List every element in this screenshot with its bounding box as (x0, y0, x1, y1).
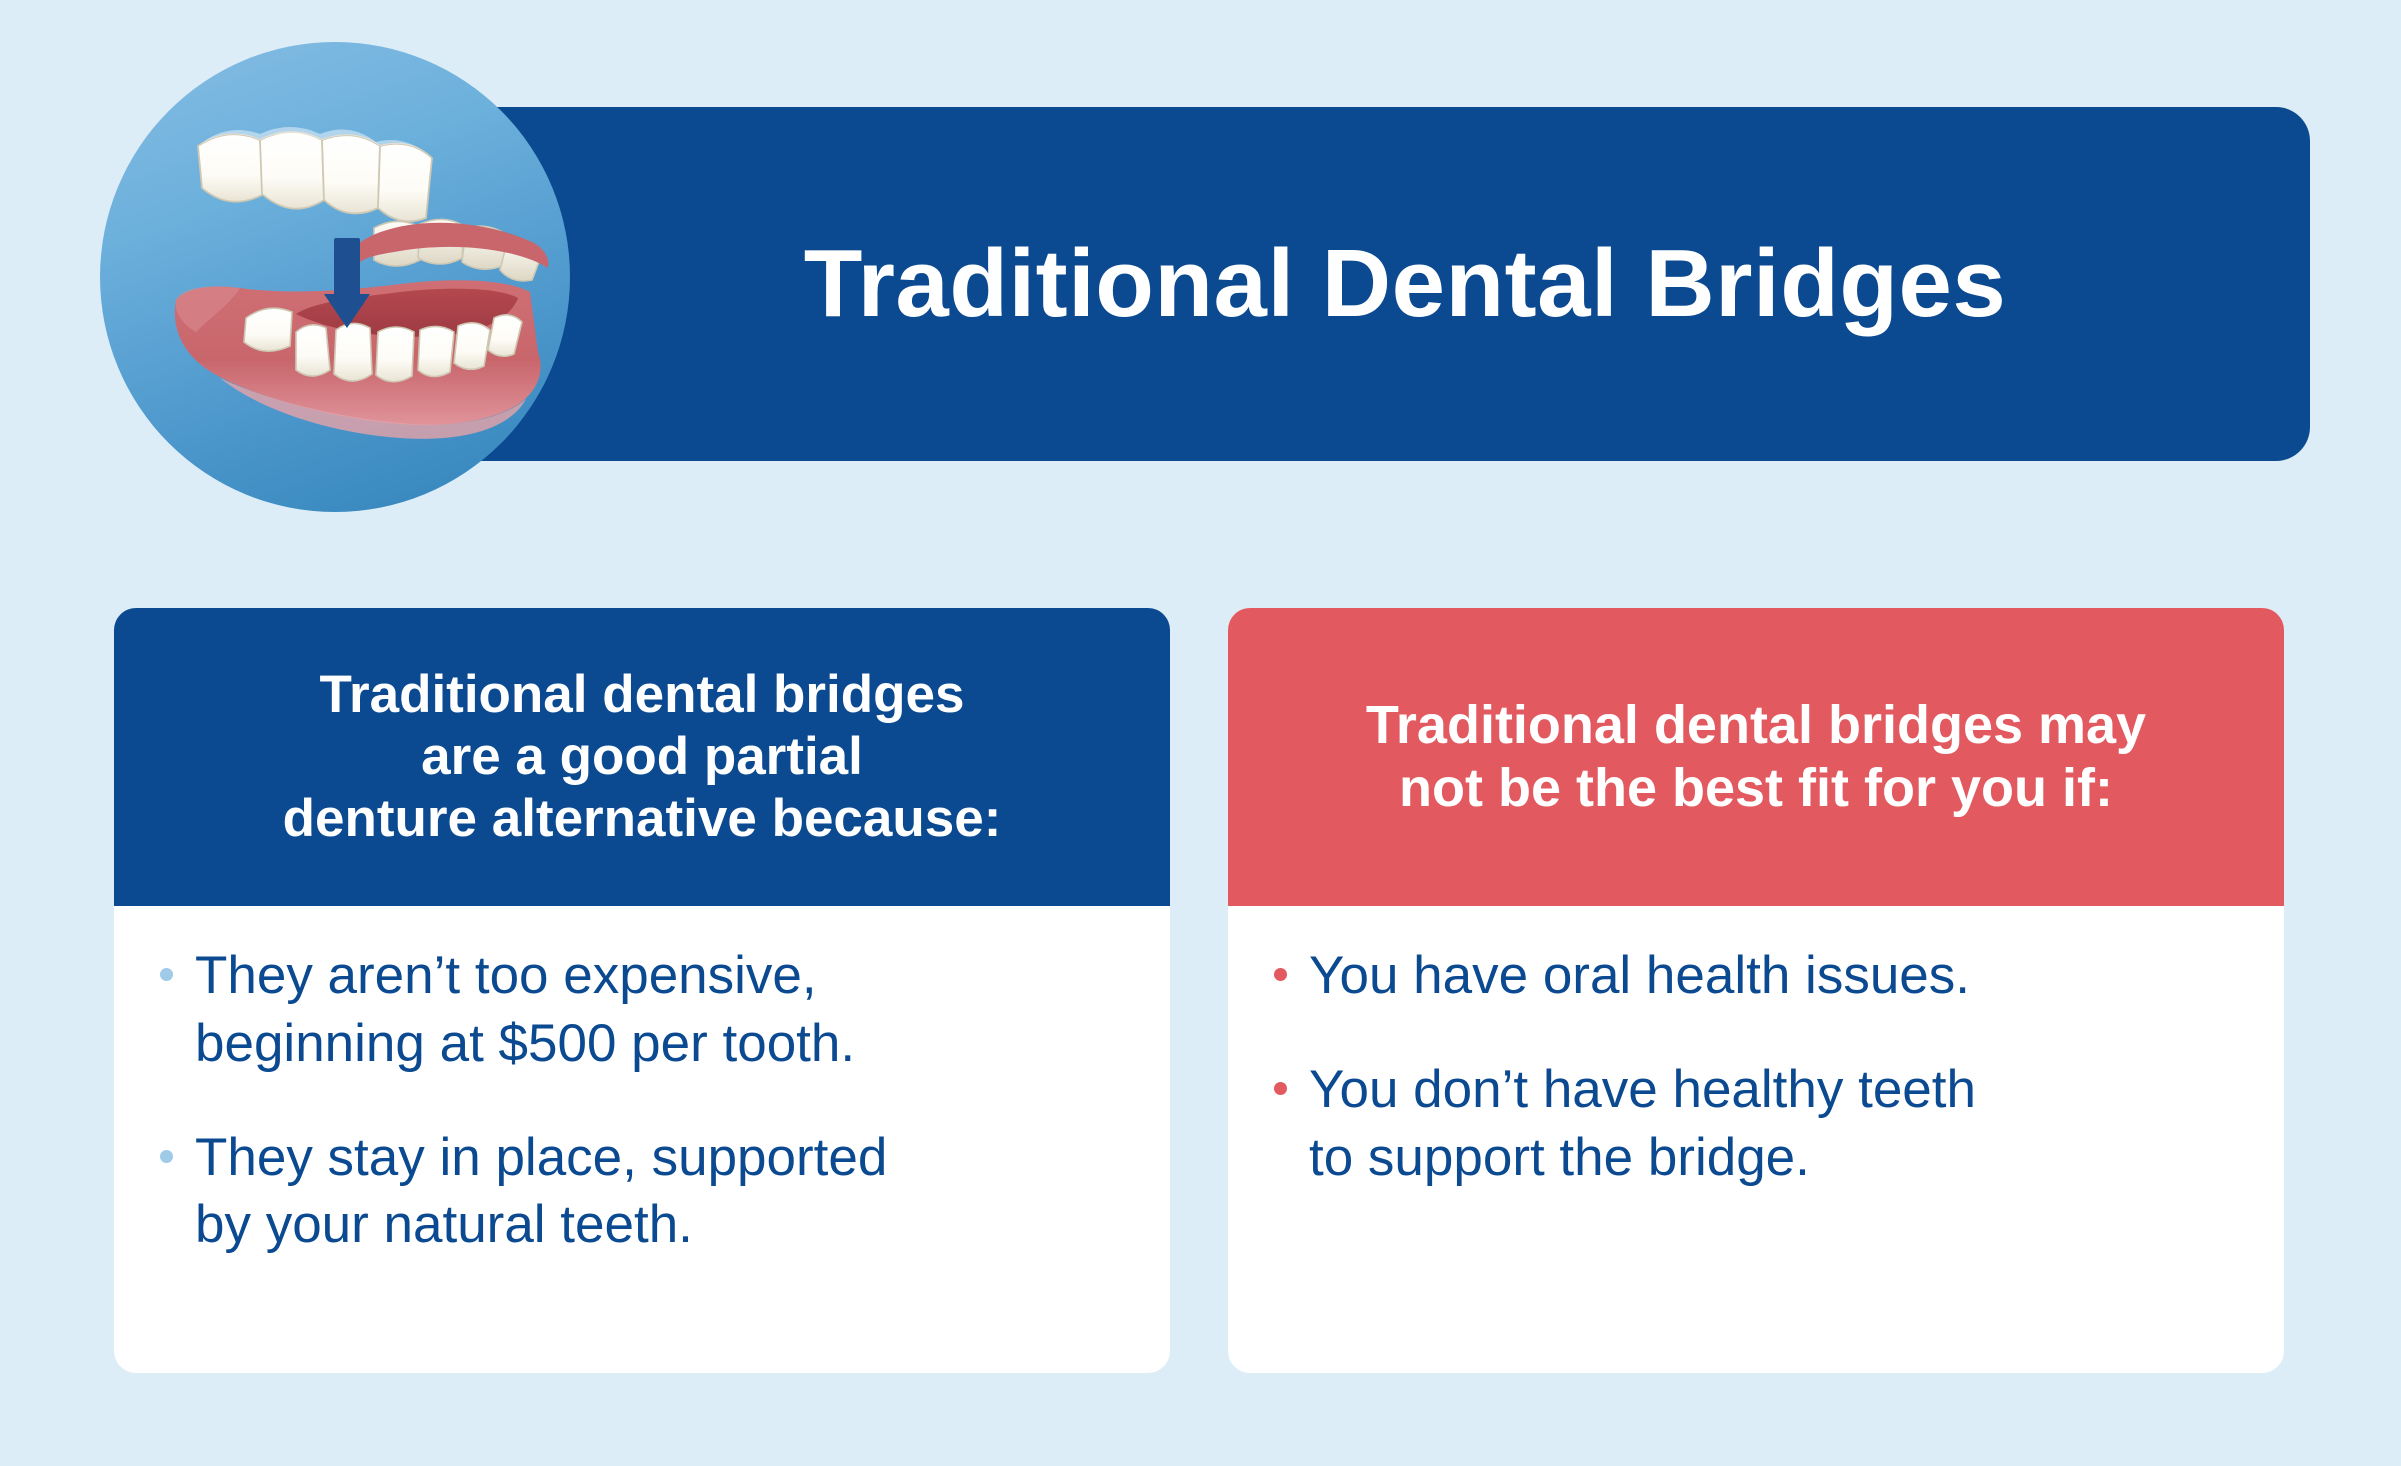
dental-bridge-prosthesis (198, 132, 432, 221)
bullet-dot-icon (1274, 1082, 1287, 1095)
page-title: Traditional Dental Bridges (804, 234, 2007, 335)
bullet-dot-icon (1274, 968, 1287, 981)
pros-card-body: They aren’t too expensive, beginning at … (114, 906, 1170, 1259)
pros-bullet-list: They aren’t too expensive, beginning at … (160, 942, 1124, 1259)
cons-bullet-text: You have oral health issues. (1309, 942, 1970, 1010)
bullet-dot-icon (160, 1150, 173, 1163)
list-item: They aren’t too expensive, beginning at … (160, 942, 1124, 1078)
list-item: They stay in place, supported by your na… (160, 1124, 1124, 1260)
pros-bullet-text: They stay in place, supported by your na… (195, 1124, 887, 1260)
pros-card-header: Traditional dental bridges are a good pa… (114, 608, 1170, 906)
dental-bridge-illustration-icon (100, 42, 570, 512)
cons-card-body: You have oral health issues. You don’t h… (1228, 906, 2284, 1191)
pros-card: Traditional dental bridges are a good pa… (114, 608, 1170, 1373)
list-item: You don’t have healthy teeth to support … (1274, 1056, 2238, 1192)
cons-bullet-list: You have oral health issues. You don’t h… (1274, 942, 2238, 1191)
bullet-dot-icon (160, 968, 173, 981)
cons-card: Traditional dental bridges may not be th… (1228, 608, 2284, 1373)
cons-bullet-text: You don’t have healthy teeth to support … (1309, 1056, 1976, 1192)
pros-card-title: Traditional dental bridges are a good pa… (283, 664, 1002, 850)
cons-card-header: Traditional dental bridges may not be th… (1228, 608, 2284, 906)
cons-card-title: Traditional dental bridges may not be th… (1366, 694, 2146, 820)
pros-bullet-text: They aren’t too expensive, beginning at … (195, 942, 855, 1078)
header-banner: Traditional Dental Bridges (360, 107, 2310, 461)
illustration-circle (100, 42, 570, 512)
list-item: You have oral health issues. (1274, 942, 2238, 1010)
